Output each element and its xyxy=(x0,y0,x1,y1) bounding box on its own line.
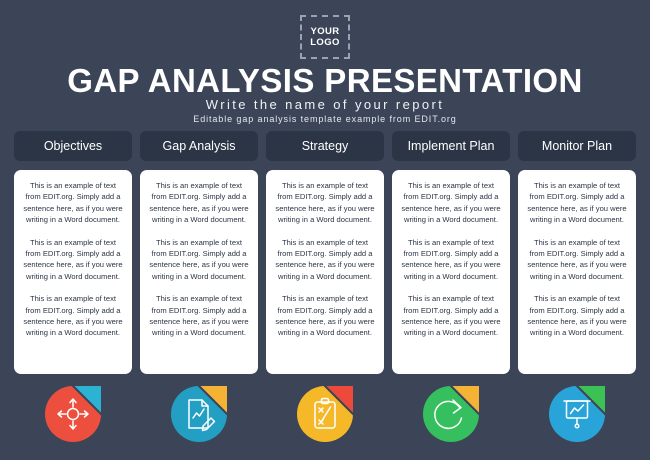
logo-placeholder: YOUR LOGO xyxy=(300,15,350,59)
column: Implement PlanThis is an example of text… xyxy=(392,131,510,374)
column-header-objectives[interactable]: Objectives xyxy=(14,131,132,161)
page-title: GAP ANALYSIS PRESENTATION xyxy=(0,62,650,100)
icons-row xyxy=(14,386,636,442)
document-edit-chart-icon[interactable] xyxy=(171,386,227,442)
card-paragraph: This is an example of text from EDIT.org… xyxy=(400,237,502,283)
column-header-monitor-plan[interactable]: Monitor Plan xyxy=(518,131,636,161)
column-header-strategy[interactable]: Strategy xyxy=(266,131,384,161)
icon-cell xyxy=(266,386,384,442)
logo-line-1: YOUR xyxy=(310,26,339,37)
column-card: This is an example of text from EDIT.org… xyxy=(140,170,258,374)
column: ObjectivesThis is an example of text fro… xyxy=(14,131,132,374)
clipboard-strategy-icon[interactable] xyxy=(297,386,353,442)
icon-cell xyxy=(14,386,132,442)
card-paragraph: This is an example of text from EDIT.org… xyxy=(148,180,250,226)
card-paragraph: This is an example of text from EDIT.org… xyxy=(22,180,124,226)
card-paragraph: This is an example of text from EDIT.org… xyxy=(274,293,376,339)
card-paragraph: This is an example of text from EDIT.org… xyxy=(22,237,124,283)
icon-cell xyxy=(392,386,510,442)
card-paragraph: This is an example of text from EDIT.org… xyxy=(148,237,250,283)
column-card: This is an example of text from EDIT.org… xyxy=(266,170,384,374)
column: Gap AnalysisThis is an example of text f… xyxy=(140,131,258,374)
column-header-implement-plan[interactable]: Implement Plan xyxy=(392,131,510,161)
card-paragraph: This is an example of text from EDIT.org… xyxy=(400,293,502,339)
card-paragraph: This is an example of text from EDIT.org… xyxy=(526,180,628,226)
column-card: This is an example of text from EDIT.org… xyxy=(518,170,636,374)
card-paragraph: This is an example of text from EDIT.org… xyxy=(274,180,376,226)
page-tagline: Editable gap analysis template example f… xyxy=(0,114,650,124)
column-card: This is an example of text from EDIT.org… xyxy=(14,170,132,374)
card-paragraph: This is an example of text from EDIT.org… xyxy=(400,180,502,226)
card-paragraph: This is an example of text from EDIT.org… xyxy=(526,293,628,339)
page-subtitle: Write the name of your report xyxy=(0,97,650,112)
target-crosshair-icon[interactable] xyxy=(45,386,101,442)
card-paragraph: This is an example of text from EDIT.org… xyxy=(526,237,628,283)
refresh-arrow-icon[interactable] xyxy=(423,386,479,442)
column: StrategyThis is an example of text from … xyxy=(266,131,384,374)
column: Monitor PlanThis is an example of text f… xyxy=(518,131,636,374)
icon-cell xyxy=(518,386,636,442)
card-paragraph: This is an example of text from EDIT.org… xyxy=(148,293,250,339)
columns-container: ObjectivesThis is an example of text fro… xyxy=(14,131,636,374)
icon-cell xyxy=(140,386,258,442)
column-card: This is an example of text from EDIT.org… xyxy=(392,170,510,374)
column-header-gap-analysis[interactable]: Gap Analysis xyxy=(140,131,258,161)
card-paragraph: This is an example of text from EDIT.org… xyxy=(274,237,376,283)
presentation-chart-icon[interactable] xyxy=(549,386,605,442)
card-paragraph: This is an example of text from EDIT.org… xyxy=(22,293,124,339)
logo-line-2: LOGO xyxy=(310,37,340,48)
